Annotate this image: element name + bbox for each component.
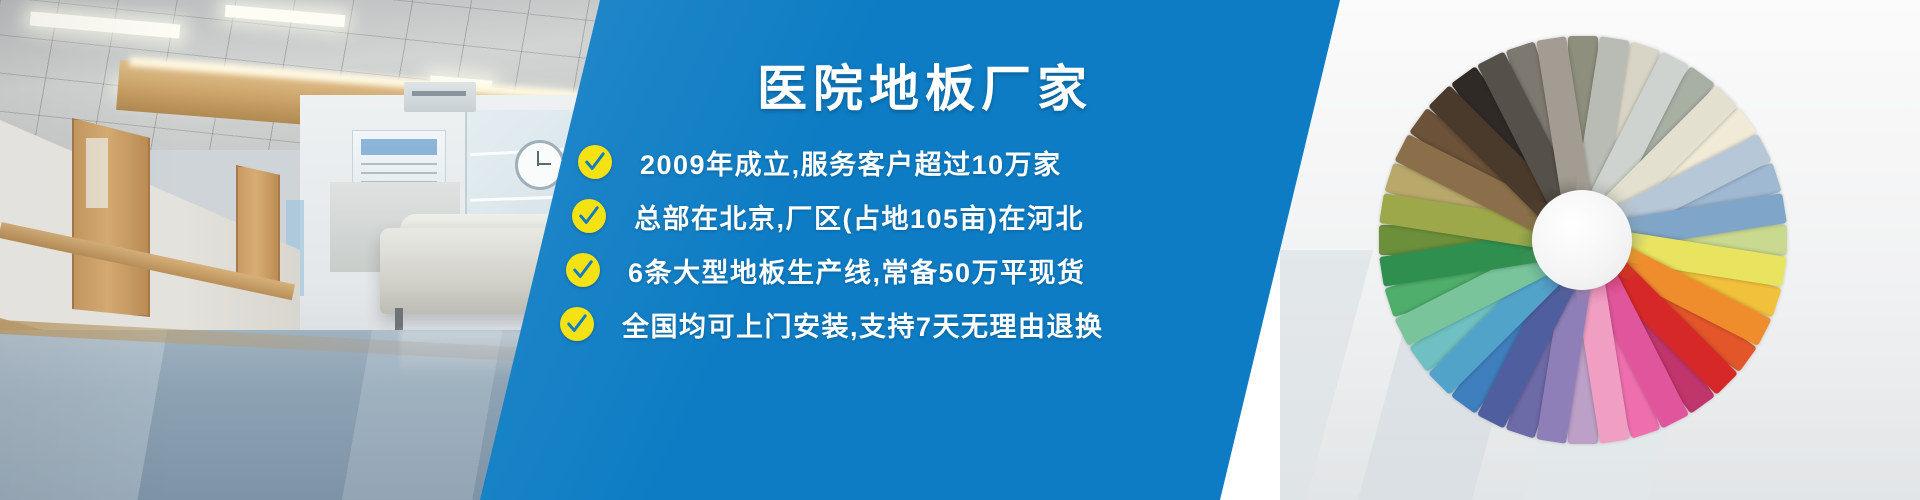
page-title: 医院地板厂家 bbox=[665, 62, 1185, 117]
panel-content: 医院地板厂家 2009年成立,服务客户超过10万家 总部在北京,厂区(占地105… bbox=[560, 0, 1260, 500]
check-circle-icon bbox=[572, 199, 606, 233]
flooring-samples-photo bbox=[1280, 0, 1920, 500]
list-item-label: 2009年成立,服务客户超过10万家 bbox=[640, 143, 1062, 182]
hanging-sign bbox=[404, 82, 476, 112]
list-item: 全国均可上门安装,支持7天无理由退换 bbox=[560, 297, 1260, 351]
wheel-hub bbox=[1532, 190, 1632, 290]
list-item-label: 全国均可上门安装,支持7天无理由退换 bbox=[622, 305, 1104, 344]
list-item: 2009年成立,服务客户超过10万家 bbox=[560, 135, 1260, 189]
check-circle-icon bbox=[560, 307, 594, 341]
check-circle-icon bbox=[578, 145, 612, 179]
list-item-label: 6条大型地板生产线,常备50万平现货 bbox=[628, 251, 1086, 290]
check-circle-icon bbox=[566, 253, 600, 287]
list-item: 总部在北京,厂区(占地105亩)在河北 bbox=[560, 189, 1260, 243]
door-window-pane bbox=[86, 138, 108, 208]
hospital-flooring-banner: 医院地板厂家 2009年成立,服务客户超过10万家 总部在北京,厂区(占地105… bbox=[0, 0, 1920, 500]
list-item-label: 总部在北京,厂区(占地105亩)在河北 bbox=[634, 197, 1084, 236]
feature-list: 2009年成立,服务客户超过10万家 总部在北京,厂区(占地105亩)在河北 6… bbox=[560, 135, 1260, 351]
wooden-door bbox=[236, 165, 280, 289]
flooring-sample-color-wheel bbox=[1372, 30, 1792, 450]
wooden-door bbox=[72, 118, 150, 317]
list-item: 6条大型地板生产线,常备50万平现货 bbox=[560, 243, 1260, 297]
